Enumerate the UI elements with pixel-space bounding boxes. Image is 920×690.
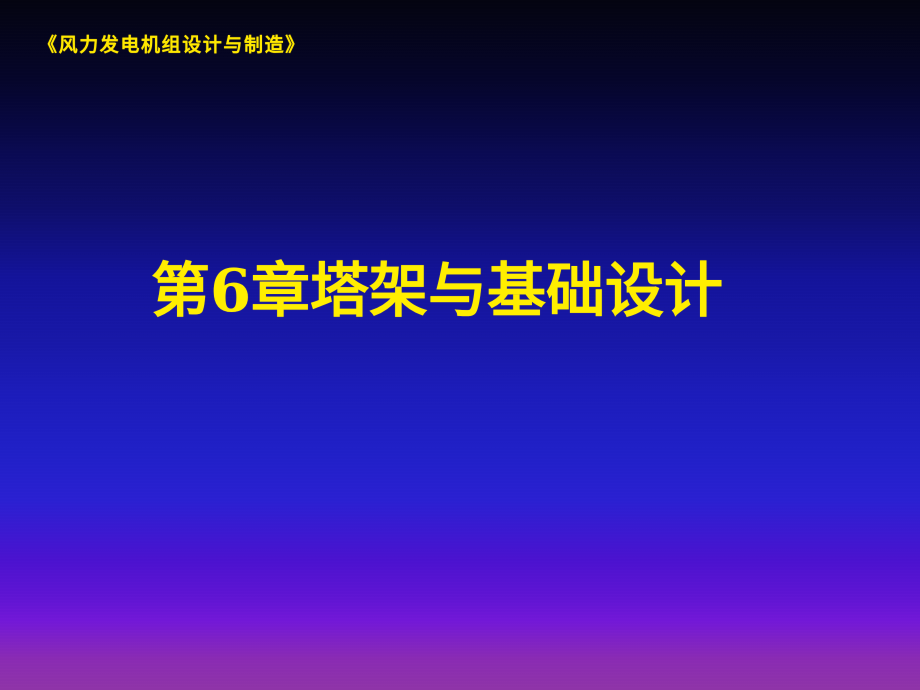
- presentation-slide: 《风力发电机组设计与制造》 第6章塔架与基础设计: [0, 0, 920, 690]
- course-title-text: 《风力发电机组设计与制造》: [38, 36, 306, 55]
- slide-title-block: 第6章塔架与基础设计: [0, 243, 920, 338]
- chapter-title-text: 第6章塔架与基础设计: [151, 260, 723, 322]
- slide-header: 《风力发电机组设计与制造》: [38, 30, 638, 60]
